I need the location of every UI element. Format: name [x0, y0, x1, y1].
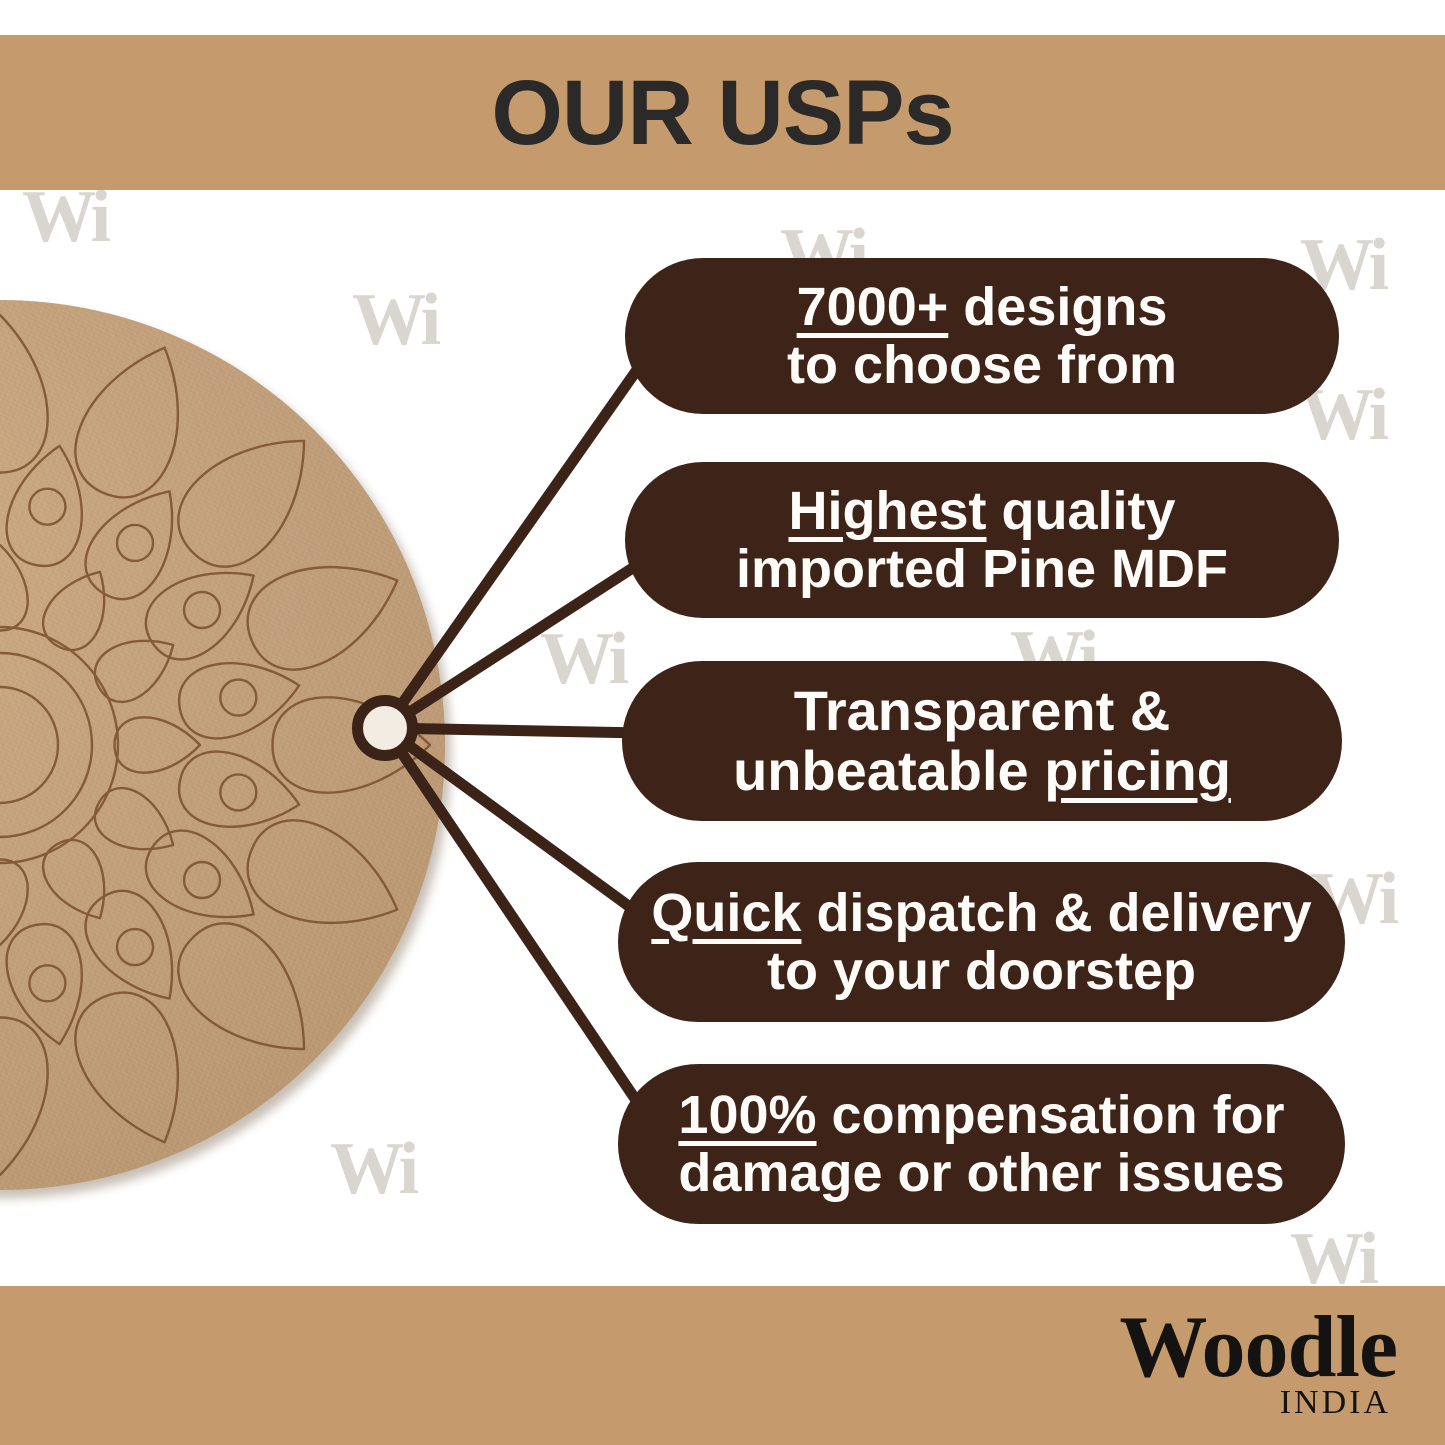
- mandala-petal: [0, 315, 48, 473]
- usp-text-line: imported Pine MDF: [736, 540, 1228, 598]
- mandala-petal: [7, 446, 82, 566]
- usp-text-line: 7000+ designs: [797, 278, 1168, 336]
- usp-pill-pricing[interactable]: Transparent &unbeatable pricing: [622, 661, 1342, 821]
- usp-pill-dispatch-delivery[interactable]: Quick dispatch & deliveryto your doorste…: [618, 862, 1345, 1022]
- usp-highlight: Highest: [788, 481, 986, 541]
- mandala-petal: [0, 1018, 48, 1176]
- usp-text: compensation for: [817, 1085, 1285, 1145]
- page-title: OUR USPs: [491, 67, 953, 159]
- usp-text: dispatch & delivery: [801, 883, 1311, 943]
- mandala-petal: [146, 831, 254, 917]
- mandala-petal: [179, 752, 299, 827]
- usp-highlight: 7000+: [797, 277, 949, 337]
- usp-text-line: unbeatable pricing: [733, 741, 1231, 801]
- usp-highlight: 100%: [678, 1085, 816, 1145]
- usp-text-line: damage or other issues: [678, 1144, 1284, 1202]
- watermark-wi: Wi: [540, 622, 625, 696]
- usp-pill-material-quality[interactable]: Highest qualityimported Pine MDF: [625, 462, 1339, 618]
- header-band: OUR USPs: [0, 35, 1445, 190]
- usp-text: unbeatable: [733, 739, 1044, 802]
- usp-text: Transparent &: [794, 679, 1171, 742]
- usp-highlight: pricing: [1044, 739, 1231, 802]
- usp-text-line: to choose from: [787, 336, 1177, 394]
- mandala-petal: [7, 924, 82, 1044]
- usp-text: designs: [948, 277, 1167, 337]
- mandala-petal: [178, 441, 304, 567]
- mandala-petal: [86, 891, 172, 999]
- mandala-dot: [220, 774, 256, 810]
- usp-text-line: Highest quality: [788, 482, 1175, 540]
- mandala-petal: [179, 663, 299, 738]
- mandala-petal: [146, 573, 254, 659]
- mandala-petal: [0, 860, 28, 946]
- usp-pill-compensation[interactable]: 100% compensation fordamage or other iss…: [618, 1064, 1345, 1224]
- mandala-petal: [248, 820, 398, 922]
- mandala-petal: [178, 923, 304, 1049]
- mandala-petal: [0, 545, 28, 631]
- usp-text: quality: [987, 481, 1176, 541]
- usp-text: damage or other issues: [678, 1143, 1284, 1203]
- infographic-canvas: WiWiWiWiWiWiWiWiWiWiWi OUR: [0, 0, 1445, 1445]
- mandala-dot: [117, 929, 153, 965]
- mandala-dot: [184, 862, 220, 898]
- mandala-petal: [75, 993, 177, 1143]
- mandala-dot: [184, 592, 220, 628]
- usp-text-line: Quick dispatch & delivery: [651, 884, 1311, 942]
- mandala-dot: [220, 680, 256, 716]
- mandala-petal: [86, 491, 172, 599]
- usp-highlight: Quick: [651, 883, 801, 943]
- mandala-dot: [29, 965, 65, 1001]
- mandala-petal: [248, 567, 398, 669]
- mandala-dot: [29, 489, 65, 525]
- brand-logo: Woodle INDIA: [1119, 1304, 1397, 1420]
- usp-text: to choose from: [787, 335, 1177, 395]
- footer-band: Woodle INDIA: [0, 1286, 1445, 1445]
- watermark-wi: Wi: [22, 180, 107, 254]
- usp-text-line: to your doorstep: [767, 942, 1196, 1000]
- usp-hub-node: [352, 695, 418, 761]
- usp-pill-designs-count[interactable]: 7000+ designsto choose from: [625, 258, 1339, 414]
- usp-text: imported Pine MDF: [736, 539, 1228, 599]
- usp-text: to your doorstep: [767, 941, 1196, 1001]
- mandala-dot: [117, 525, 153, 561]
- mandala-petal: [75, 348, 177, 498]
- usp-text-line: 100% compensation for: [678, 1086, 1284, 1144]
- brand-name: Woodle: [1119, 1304, 1397, 1392]
- watermark-wi: Wi: [1290, 1222, 1375, 1296]
- usp-text-line: Transparent &: [794, 681, 1171, 741]
